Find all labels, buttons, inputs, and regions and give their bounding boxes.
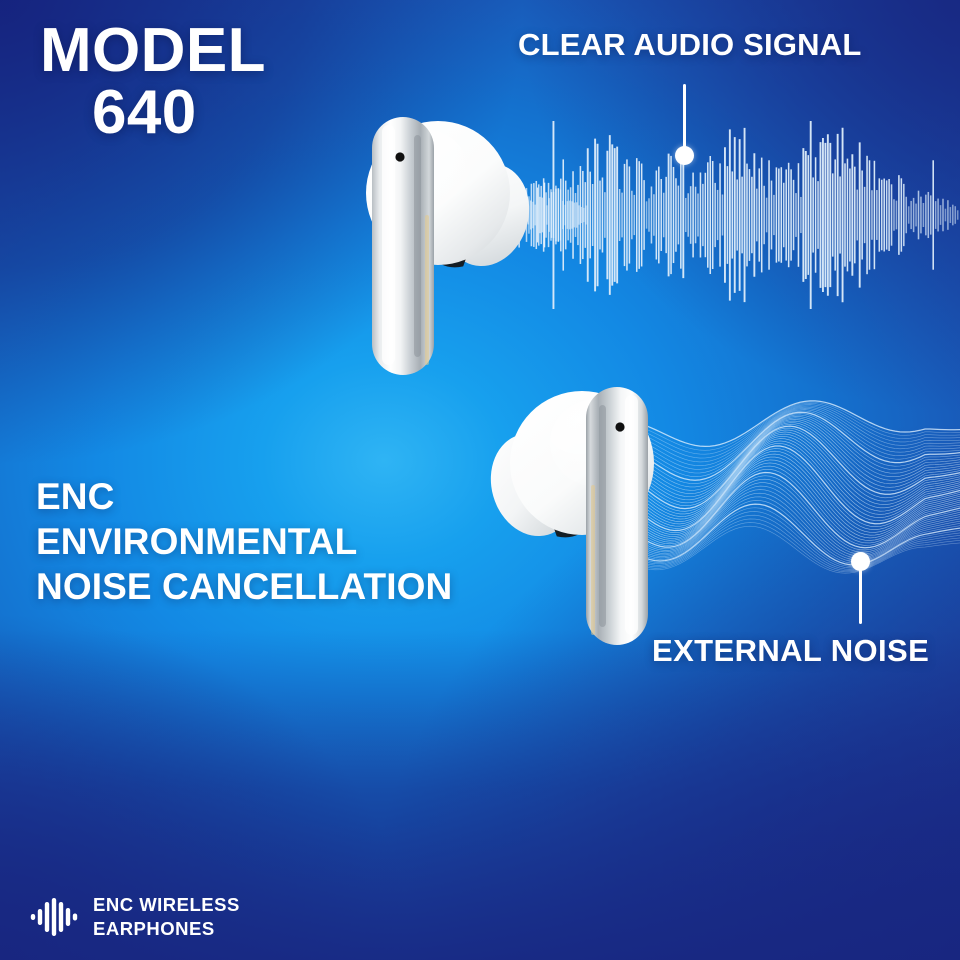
callout-leader-line-external-noise <box>859 566 862 624</box>
model-title-line1: MODEL <box>40 16 266 85</box>
feature-description: ENC ENVIRONMENTAL NOISE CANCELLATION <box>36 474 452 609</box>
feature-line-3: NOISE CANCELLATION <box>36 566 452 607</box>
page-title: MODEL 640 <box>40 20 266 144</box>
callout-dot-external-noise <box>851 552 870 571</box>
feature-line-1: ENC <box>36 476 114 517</box>
sound-bars-icon <box>30 895 78 939</box>
earbud-bottom <box>460 365 690 665</box>
feature-line-2: ENVIRONMENTAL <box>36 521 357 562</box>
brand-name: ENC WIRELESS EARPHONES <box>93 893 240 941</box>
brand-line-2: EARPHONES <box>93 917 240 941</box>
callout-label-clear-audio-signal: CLEAR AUDIO SIGNAL <box>518 28 861 62</box>
callout-dot-clear-audio-signal <box>675 146 694 165</box>
advertisement-canvas: MODEL 640 CLEAR AUDIO SIGNAL ENC ENVIRON… <box>0 0 960 960</box>
callout-label-external-noise: EXTERNAL NOISE <box>652 634 929 668</box>
brand-lockup: ENC WIRELESS EARPHONES <box>30 893 240 941</box>
brand-line-1: ENC WIRELESS <box>93 893 240 917</box>
model-title-line2: 640 <box>92 82 266 144</box>
earbud-top <box>330 95 560 395</box>
